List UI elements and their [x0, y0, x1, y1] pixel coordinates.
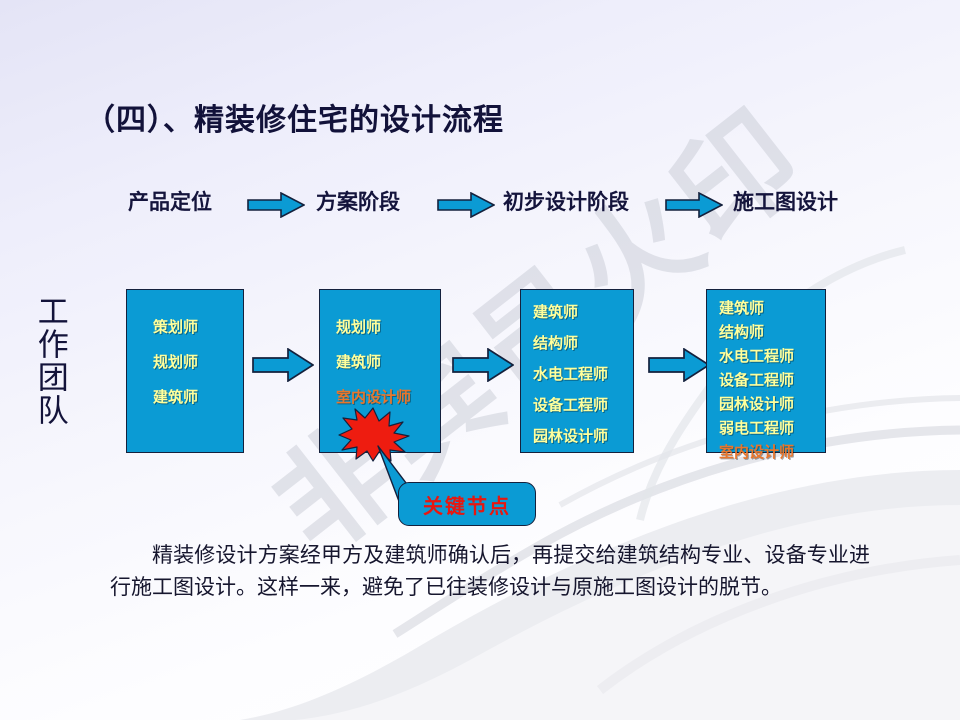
page-title: （四）、精装修住宅的设计流程	[85, 95, 504, 139]
role-item-accent: 室内设计师	[336, 386, 440, 407]
team-vertical-label: 工作团队	[32, 295, 67, 427]
role-item-accent: 室内设计师	[719, 441, 825, 462]
key-node-callout-label: 关键节点	[423, 490, 511, 519]
team-box-1[interactable]: 策划师 规划师 建筑师	[126, 289, 244, 453]
role-item: 园林设计师	[533, 425, 633, 446]
stage-flow-row: 产品定位 方案阶段 初步设计阶段 施工图设计	[120, 186, 880, 226]
flow-arrow-3-icon	[648, 348, 710, 382]
stage-arrow-2-icon	[437, 192, 495, 218]
role-item: 水电工程师	[719, 345, 825, 366]
role-item: 弱电工程师	[719, 417, 825, 438]
role-item: 水电工程师	[533, 363, 633, 384]
role-item: 设备工程师	[719, 369, 825, 390]
stage-label-1: 产品定位	[128, 186, 212, 216]
role-item: 规划师	[336, 316, 440, 337]
flow-arrow-1-icon	[252, 348, 314, 382]
role-item: 建筑师	[336, 351, 440, 372]
team-box-3[interactable]: 建筑师 结构师 水电工程师 设备工程师 园林设计师	[520, 289, 634, 453]
stage-label-3: 初步设计阶段	[503, 186, 629, 216]
key-node-callout[interactable]: 关键节点	[398, 482, 536, 526]
slide-canvas: 非宾员火印 （四）、精装修住宅的设计流程 产品定位 方案阶段 初步设计阶段 施工…	[0, 0, 960, 720]
stage-arrow-1-icon	[247, 192, 305, 218]
role-item: 结构师	[533, 332, 633, 353]
role-item: 策划师	[153, 316, 243, 337]
flow-arrow-2-icon	[452, 348, 514, 382]
stage-arrow-3-icon	[665, 192, 723, 218]
role-item: 设备工程师	[533, 394, 633, 415]
role-item: 规划师	[153, 351, 243, 372]
stage-label-4: 施工图设计	[733, 186, 838, 216]
team-box-4[interactable]: 建筑师 结构师 水电工程师 设备工程师 园林设计师 弱电工程师 室内设计师	[706, 289, 826, 453]
body-paragraph: 精装修设计方案经甲方及建筑师确认后，再提交给建筑结构专业、设备专业进行施工图设计…	[110, 540, 870, 604]
role-item: 建筑师	[719, 297, 825, 318]
stage-label-2: 方案阶段	[316, 186, 400, 216]
role-item: 建筑师	[533, 301, 633, 322]
role-item: 建筑师	[153, 386, 243, 407]
role-item: 结构师	[719, 321, 825, 342]
role-item: 园林设计师	[719, 393, 825, 414]
